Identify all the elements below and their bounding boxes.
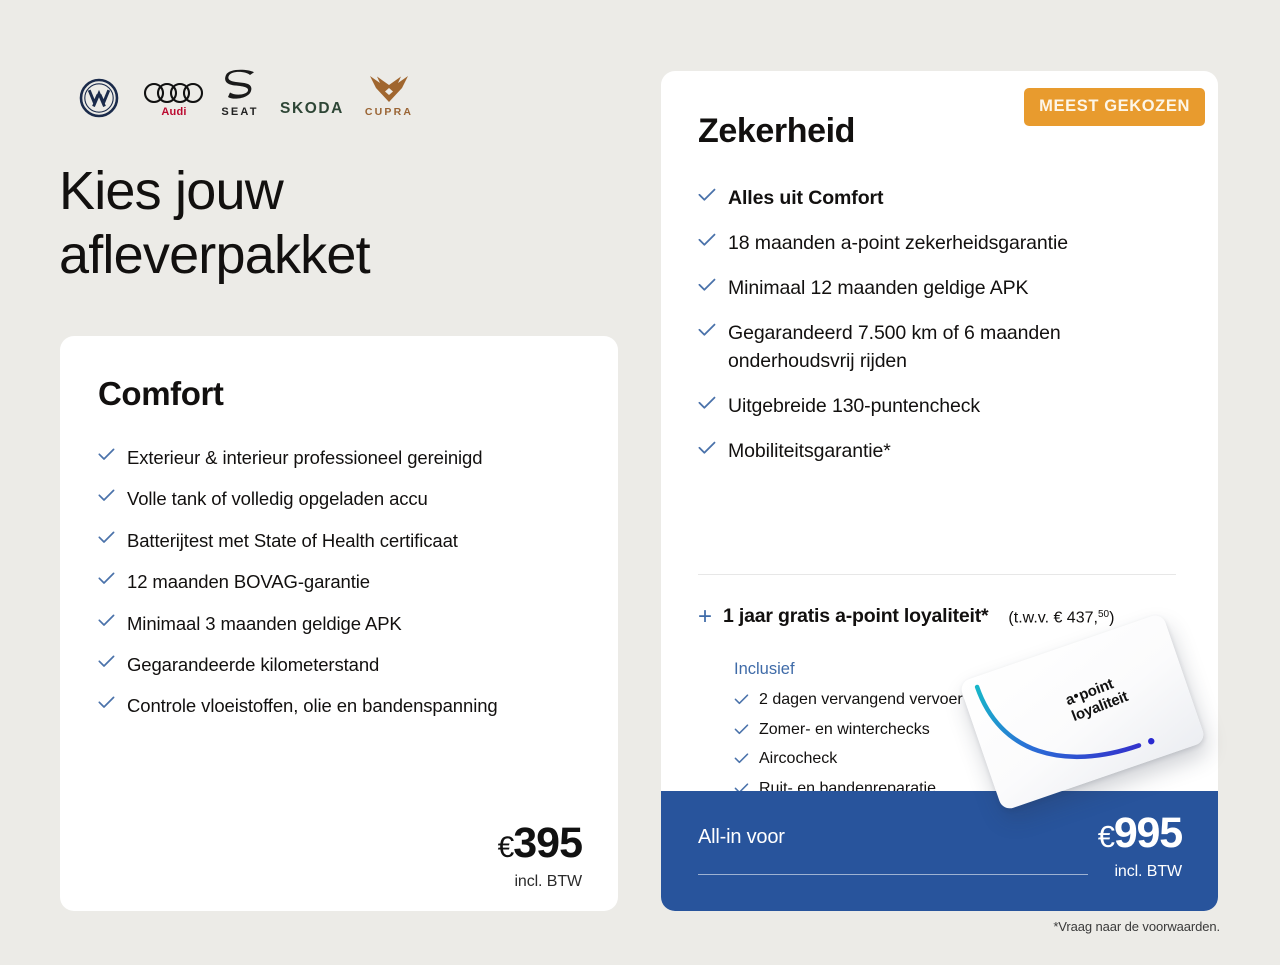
comfort-price-note: incl. BTW bbox=[498, 873, 582, 891]
loyalty-title: 1 jaar gratis a-point loyaliteit* bbox=[723, 605, 988, 628]
list-item: Batterijtest met State of Health certifi… bbox=[98, 527, 578, 554]
list-item-label: Volle tank of volledig opgeladen accu bbox=[127, 485, 428, 512]
list-item: 2 dagen vervangend vervoer bbox=[734, 689, 963, 711]
zekerheid-feature-list: Alles uit Comfort 18 maanden a-point zek… bbox=[698, 184, 1178, 482]
check-icon bbox=[98, 448, 115, 466]
loyalty-value-note: (t.w.v. € 437,50) bbox=[1008, 609, 1114, 628]
list-item-label: Exterieur & interieur professioneel gere… bbox=[127, 444, 482, 471]
zekerheid-price: €995 bbox=[1098, 812, 1182, 855]
check-icon bbox=[698, 396, 716, 415]
cupra-wordmark: CUPRA bbox=[365, 106, 413, 118]
audi-wordmark: Audi bbox=[161, 106, 186, 118]
check-icon bbox=[698, 188, 716, 207]
list-item-label: Minimaal 3 maanden geldige APK bbox=[127, 610, 402, 637]
loyalty-note-cents: 50 bbox=[1098, 609, 1109, 620]
list-item-label: Controle vloeistoffen, olie en bandenspa… bbox=[127, 692, 498, 719]
check-icon bbox=[734, 692, 749, 710]
check-icon bbox=[98, 489, 115, 507]
cupra-icon bbox=[368, 74, 410, 104]
seat-logo: SEAT bbox=[209, 69, 271, 118]
list-item-label: Uitgebreide 130-puntencheck bbox=[728, 392, 980, 421]
comfort-feature-list: Exterieur & interieur professioneel gere… bbox=[98, 444, 578, 734]
list-item-label: 2 dagen vervangend vervoer bbox=[759, 689, 963, 711]
comfort-price-block: €395 incl. BTW bbox=[498, 822, 582, 891]
price-amount: 995 bbox=[1114, 809, 1182, 857]
cupra-logo: CUPRA bbox=[353, 74, 425, 118]
audi-logo: Audi bbox=[139, 82, 209, 118]
check-icon bbox=[98, 655, 115, 673]
loyalty-header: + 1 jaar gratis a-point loyaliteit* (t.w… bbox=[698, 603, 1114, 628]
loyalty-note-prefix: (t.w.v. € 437, bbox=[1008, 609, 1098, 626]
check-icon bbox=[734, 751, 749, 769]
status-badge: MEEST GEKOZEN bbox=[1024, 88, 1205, 126]
list-item: Minimaal 3 maanden geldige APK bbox=[98, 610, 578, 637]
left-column: Audi SEAT SKODA CUPRA Kies jouw afleverp… bbox=[0, 0, 660, 965]
check-icon bbox=[734, 722, 749, 740]
section-divider bbox=[698, 574, 1176, 575]
allin-label: All-in voor bbox=[698, 826, 785, 849]
list-item: 12 maanden BOVAG-garantie bbox=[98, 568, 578, 595]
check-icon bbox=[698, 323, 716, 342]
inclusief-label: Inclusief bbox=[734, 660, 795, 679]
check-icon bbox=[698, 233, 716, 252]
check-icon bbox=[98, 531, 115, 549]
price-footer: All-in voor €995 incl. BTW bbox=[661, 791, 1218, 911]
check-icon bbox=[98, 696, 115, 714]
comfort-title: Comfort bbox=[98, 375, 224, 413]
list-item: Volle tank of volledig opgeladen accu bbox=[98, 485, 578, 512]
skoda-logo: SKODA bbox=[271, 100, 353, 118]
seat-s-icon bbox=[223, 69, 257, 105]
list-item-label: Gegarandeerd 7.500 km of 6 maanden onder… bbox=[728, 319, 1178, 377]
seat-wordmark: SEAT bbox=[221, 106, 258, 118]
volkswagen-icon bbox=[79, 78, 119, 118]
delivery-package-page: Audi SEAT SKODA CUPRA Kies jouw afleverp… bbox=[0, 0, 1280, 965]
list-item-label: Zomer- en winterchecks bbox=[759, 719, 930, 741]
list-item-label: Minimaal 12 maanden geldige APK bbox=[728, 274, 1028, 303]
list-item-label: Gegarandeerde kilometerstand bbox=[127, 651, 379, 678]
list-item: Zomer- en winterchecks bbox=[734, 719, 963, 741]
page-title: Kies jouw afleverpakket bbox=[59, 160, 579, 287]
list-item-label: 12 maanden BOVAG-garantie bbox=[127, 568, 370, 595]
list-item-label: Mobiliteitsgarantie* bbox=[728, 437, 891, 466]
zekerheid-price-block: €995 incl. BTW bbox=[1098, 812, 1182, 881]
zekerheid-package-card[interactable]: MEEST GEKOZEN Zekerheid Alles uit Comfor… bbox=[661, 71, 1218, 911]
price-amount: 395 bbox=[513, 819, 582, 867]
list-item-label: Aircocheck bbox=[759, 748, 837, 770]
currency-symbol: € bbox=[1098, 819, 1114, 854]
list-item: Exterieur & interieur professioneel gere… bbox=[98, 444, 578, 471]
brand-logo-row: Audi SEAT SKODA CUPRA bbox=[59, 68, 425, 118]
zekerheid-title: Zekerheid bbox=[698, 112, 855, 151]
loyalty-note-suffix: ) bbox=[1109, 609, 1114, 626]
check-icon bbox=[698, 278, 716, 297]
check-icon bbox=[698, 441, 716, 460]
list-item-label: Batterijtest met State of Health certifi… bbox=[127, 527, 458, 554]
footer-divider bbox=[698, 874, 1088, 875]
list-item: Aircocheck bbox=[734, 748, 963, 770]
list-item: Controle vloeistoffen, olie en bandenspa… bbox=[98, 692, 578, 719]
list-item: Mobiliteitsgarantie* bbox=[698, 437, 1178, 466]
list-item: Alles uit Comfort bbox=[698, 184, 1178, 213]
list-item: Gegarandeerde kilometerstand bbox=[98, 651, 578, 678]
list-item: Uitgebreide 130-puntencheck bbox=[698, 392, 1178, 421]
zekerheid-price-note: incl. BTW bbox=[1098, 863, 1182, 881]
check-icon bbox=[98, 572, 115, 590]
loyalty-item-list: 2 dagen vervangend vervoer Zomer- en win… bbox=[734, 689, 963, 807]
list-item: Minimaal 12 maanden geldige APK bbox=[698, 274, 1178, 303]
volkswagen-logo bbox=[59, 78, 139, 118]
list-item: Gegarandeerd 7.500 km of 6 maanden onder… bbox=[698, 319, 1178, 377]
list-item-label: 18 maanden a-point zekerheidsgarantie bbox=[728, 229, 1068, 258]
comfort-price: €395 bbox=[498, 822, 582, 865]
skoda-wordmark: SKODA bbox=[280, 100, 344, 118]
audi-rings-icon bbox=[143, 82, 205, 104]
legal-note: *Vraag naar de voorwaarden. bbox=[1053, 919, 1220, 934]
comfort-package-card[interactable]: Comfort Exterieur & interieur profession… bbox=[60, 336, 618, 911]
list-item-label: Alles uit Comfort bbox=[728, 184, 883, 213]
list-item: 18 maanden a-point zekerheidsgarantie bbox=[698, 229, 1178, 258]
plus-icon: + bbox=[698, 605, 712, 629]
check-icon bbox=[98, 614, 115, 632]
currency-symbol: € bbox=[498, 831, 514, 864]
